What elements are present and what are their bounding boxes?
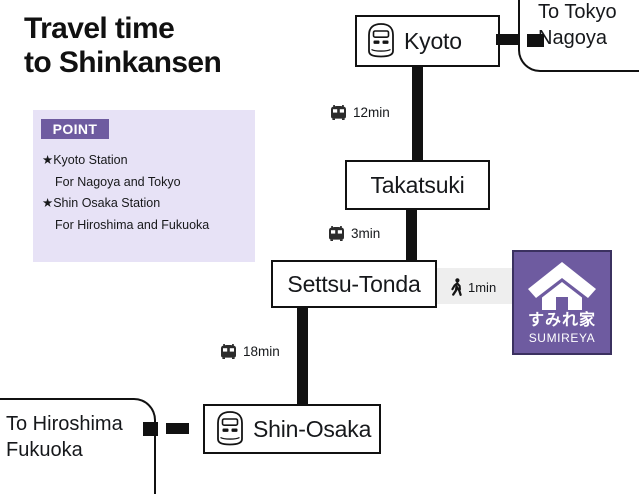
leg-settsu-shinosaka: 18min	[219, 344, 280, 359]
point-panel: POINT ★Kyoto Station For Nagoya and Toky…	[33, 110, 255, 262]
leg-settsu-sumireya: 1min	[449, 278, 496, 297]
leg-time-label: 12min	[353, 105, 390, 120]
connector-kyoto-east	[496, 34, 520, 45]
point-badge: POINT	[41, 119, 109, 139]
sumireya-name-jp: すみれ家	[528, 313, 596, 329]
local-train-icon	[327, 226, 346, 241]
station-shin-osaka[interactable]: Shin-Osaka	[203, 404, 381, 454]
station-settsu-tonda[interactable]: Settsu-Tonda	[271, 260, 437, 308]
local-train-icon	[329, 105, 348, 120]
travel-time-diagram: Travel time to Shinkansen POINT ★Kyoto S…	[0, 0, 639, 480]
destination-hiroshima-label: To Hiroshima Fukuoka	[6, 412, 123, 463]
shinkansen-icon	[363, 22, 399, 60]
shinkansen-icon	[212, 410, 248, 448]
point-list-item: For Hiroshima and Fukuoka	[42, 219, 249, 232]
station-kyoto[interactable]: Kyoto	[355, 15, 500, 67]
walking-icon	[449, 278, 464, 297]
leg-takatsuki-settsu: 3min	[327, 226, 380, 241]
connector-shinosaka-west	[166, 423, 189, 434]
destination-tokyo-label: To Tokyo Nagoya	[538, 0, 617, 51]
leg-time-label: 1min	[468, 280, 496, 295]
leg-time-label: 3min	[351, 226, 380, 241]
station-takatsuki-label: Takatsuki	[370, 172, 464, 199]
point-list-item: For Nagoya and Tokyo	[42, 176, 249, 189]
station-kyoto-label: Kyoto	[404, 28, 462, 55]
house-icon	[526, 259, 598, 311]
local-train-icon	[219, 344, 238, 359]
point-list: ★Kyoto Station For Nagoya and Tokyo ★Shi…	[42, 154, 249, 240]
point-list-item: ★Kyoto Station	[42, 154, 249, 167]
connector-tokyo-stub	[527, 34, 544, 47]
page-title: Travel time to Shinkansen	[24, 12, 221, 80]
station-settsu-tonda-label: Settsu-Tonda	[287, 271, 420, 298]
track-kyoto-takatsuki	[412, 60, 423, 166]
leg-time-label: 18min	[243, 344, 280, 359]
sumireya-name-en: SUMIREYA	[529, 332, 596, 344]
leg-kyoto-takatsuki: 12min	[329, 105, 390, 120]
connector-hiroshima-stub	[143, 422, 158, 436]
track-settsu-shinosaka	[297, 300, 308, 412]
sumireya-card[interactable]: すみれ家 SUMIREYA	[512, 250, 612, 355]
station-shin-osaka-label: Shin-Osaka	[253, 416, 371, 443]
station-takatsuki[interactable]: Takatsuki	[345, 160, 490, 210]
point-list-item: ★Shin Osaka Station	[42, 197, 249, 210]
